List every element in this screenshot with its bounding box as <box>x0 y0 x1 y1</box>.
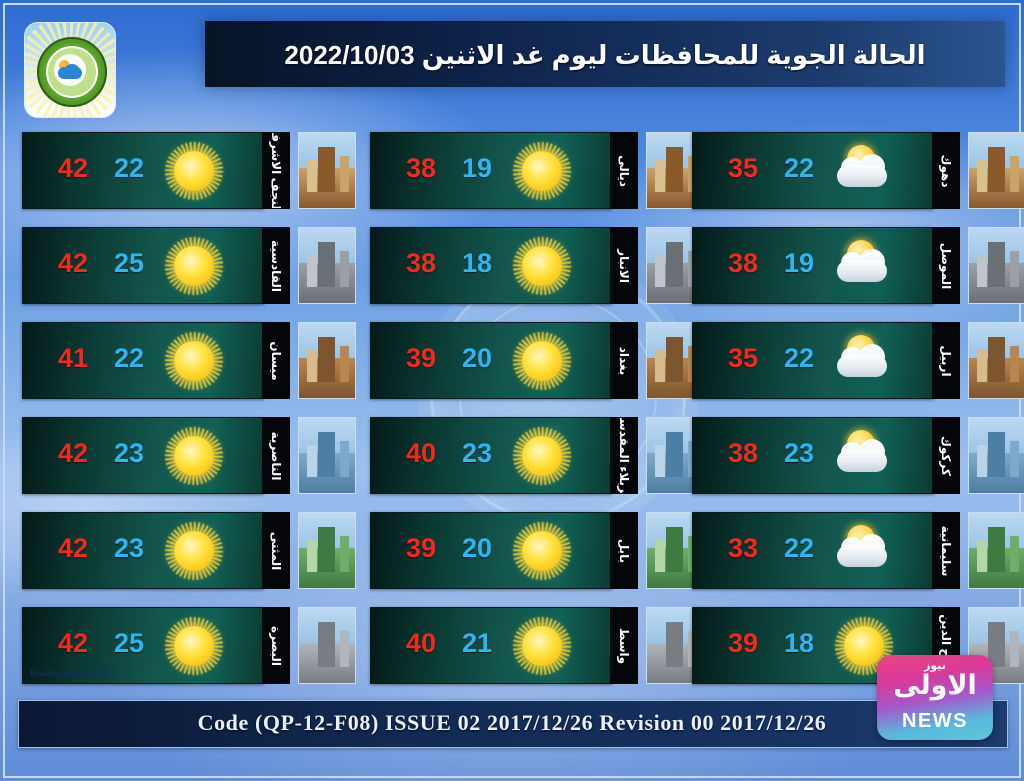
forecast-row: 3818الانبار <box>370 227 680 317</box>
forecast-card[interactable]: 4223 <box>22 417 264 494</box>
max-temperature: 41 <box>47 343 99 374</box>
forecast-card[interactable]: 3823 <box>692 417 934 494</box>
photo-structure-secondary <box>307 445 317 477</box>
seal-weather-glyph <box>54 54 86 86</box>
max-temperature: 33 <box>717 533 769 564</box>
partly-cloudy-icon <box>833 331 895 391</box>
photo-structure <box>666 527 683 572</box>
photo-structure-secondary <box>977 445 987 477</box>
partly-cloudy-icon <box>833 141 895 201</box>
forecast-column-3: 3522دهوك3819الموصل3522اربيل3823كركوك3322… <box>692 132 1002 702</box>
sun-icon <box>163 521 225 581</box>
min-temperature: 18 <box>773 628 825 659</box>
forecast-card[interactable]: 3920 <box>370 322 612 399</box>
min-temperature: 25 <box>103 248 155 279</box>
sun-disc <box>522 531 562 571</box>
sun-icon <box>511 236 573 296</box>
governorate-name: واسط <box>617 627 631 663</box>
photo-structure-secondary <box>307 635 317 667</box>
photo-structure-tertiary <box>1010 536 1019 572</box>
governorate-nameplate: بغداد <box>610 322 638 399</box>
news-logo-english: NEWS <box>877 710 993 733</box>
governorate-nameplate: ديالى <box>610 132 638 209</box>
governorate-name: سليمانية <box>939 525 953 576</box>
photo-structure <box>666 432 683 477</box>
photo-structure <box>666 147 683 192</box>
landmark-photo-sulaymaniyah-building <box>968 512 1024 589</box>
sun-icon <box>511 331 573 391</box>
photo-structure-secondary <box>307 540 317 572</box>
governorate-name: ميسان <box>269 341 283 380</box>
photo-structure-secondary <box>307 255 317 287</box>
photo-structure-tertiary <box>1010 156 1019 192</box>
forecast-card[interactable]: 3819 <box>370 132 612 209</box>
governorate-nameplate: البصرة <box>262 607 290 684</box>
photo-structure-secondary <box>655 160 665 192</box>
governorate-nameplate: كركوك <box>932 417 960 494</box>
max-temperature: 39 <box>395 343 447 374</box>
max-temperature: 42 <box>47 153 99 184</box>
governorate-name: النجف الاشرف <box>269 132 283 209</box>
landmark-photo-nasiriyah-river <box>298 417 356 494</box>
governorate-name: الموصل <box>939 242 953 289</box>
partly-cloudy-icon <box>833 426 895 486</box>
forecast-card[interactable]: 4122 <box>22 322 264 399</box>
max-temperature: 35 <box>717 343 769 374</box>
photo-structure-secondary <box>655 445 665 477</box>
photo-structure-secondary <box>977 160 987 192</box>
photo-structure <box>988 147 1005 192</box>
governorate-name: البصرة <box>269 626 283 666</box>
governorate-nameplate: كربلاء المقدسة <box>610 417 638 494</box>
governorate-nameplate: الموصل <box>932 227 960 304</box>
governorate-nameplate: الانبار <box>610 227 638 304</box>
landmark-photo-najaf-shrine <box>298 132 356 209</box>
forecast-row: 3819الموصل <box>692 227 1002 317</box>
max-temperature: 38 <box>395 248 447 279</box>
landmark-photo-amarah-tower <box>298 322 356 399</box>
footer-code-text: Code (QP-12-F08) ISSUE 02 2017/12/26 Rev… <box>18 700 1006 746</box>
governorate-nameplate: بابل <box>610 512 638 589</box>
sun-disc <box>174 531 214 571</box>
forecast-card[interactable]: 4223 <box>22 512 264 589</box>
max-temperature: 40 <box>395 628 447 659</box>
news-channel-logo: نيوز الاولى NEWS <box>877 655 993 740</box>
forecast-row: 4223المثنى <box>22 512 332 602</box>
governorate-name: الناصرية <box>269 431 283 480</box>
forecast-row: 4023كربلاء المقدسة <box>370 417 680 507</box>
sun-disc <box>174 341 214 381</box>
sun-icon <box>163 331 225 391</box>
landmark-photo-samawah-arch <box>298 512 356 589</box>
photo-structure-secondary <box>307 350 317 382</box>
cloud-base <box>837 260 887 282</box>
sun-disc <box>522 341 562 381</box>
forecast-row: 4222النجف الاشرف <box>22 132 332 222</box>
governorate-name: دهوك <box>939 154 953 187</box>
forecast-card[interactable]: 3322 <box>692 512 934 589</box>
governorate-nameplate: سليمانية <box>932 512 960 589</box>
min-temperature: 23 <box>103 533 155 564</box>
photo-structure-tertiary <box>1010 346 1019 382</box>
governorate-nameplate: الناصرية <box>262 417 290 494</box>
forecast-card[interactable]: 3818 <box>370 227 612 304</box>
photo-structure-tertiary <box>340 441 349 477</box>
photo-structure <box>318 337 335 382</box>
min-temperature: 18 <box>451 248 503 279</box>
weather-forecast-screen: الحالة الجوية للمحافظات ليوم غد الاثنين … <box>0 0 1024 781</box>
forecast-row: 4021واسط <box>370 607 680 697</box>
photo-structure-tertiary <box>1010 441 1019 477</box>
sun-icon <box>511 521 573 581</box>
photo-structure-secondary <box>307 160 317 192</box>
photo-structure <box>988 337 1005 382</box>
forecast-card[interactable]: 4021 <box>370 607 612 684</box>
max-temperature: 40 <box>395 438 447 469</box>
governorate-name: بغداد <box>617 346 631 374</box>
photo-structure <box>988 242 1005 287</box>
forecast-card[interactable]: 4222 <box>22 132 264 209</box>
landmark-photo-duhok-cliffs <box>968 132 1024 209</box>
sun-disc <box>522 436 562 476</box>
min-temperature: 19 <box>773 248 825 279</box>
min-temperature: 23 <box>773 438 825 469</box>
min-temperature: 22 <box>103 343 155 374</box>
max-temperature: 38 <box>717 248 769 279</box>
forecast-row: 3522اربيل <box>692 322 1002 412</box>
forecast-row: 3920بابل <box>370 512 680 602</box>
cloud-base <box>837 165 887 187</box>
forecast-row: 4122ميسان <box>22 322 332 412</box>
landmark-photo-mosul-minaret <box>968 227 1024 304</box>
sun-icon <box>163 141 225 201</box>
governorate-name: المثنى <box>269 531 283 570</box>
photo-structure <box>666 622 683 667</box>
max-temperature: 42 <box>47 248 99 279</box>
photo-structure <box>666 337 683 382</box>
photo-structure <box>666 242 683 287</box>
min-temperature: 22 <box>773 153 825 184</box>
forecast-column-2: 3819ديالى3818الانبار3920بغداد4023كربلاء … <box>370 132 680 702</box>
sun-icon <box>163 616 225 676</box>
max-temperature: 38 <box>395 153 447 184</box>
sun-disc <box>174 246 214 286</box>
forecast-column-1: 4222النجف الاشرف4225القادسية4122ميسان422… <box>22 132 332 702</box>
partly-cloudy-icon <box>833 236 895 296</box>
photo-structure-tertiary <box>1010 631 1019 667</box>
governorate-nameplate: المثنى <box>262 512 290 589</box>
photo-structure <box>318 147 335 192</box>
photo-structure <box>988 527 1005 572</box>
min-temperature: 22 <box>103 153 155 184</box>
sun-disc <box>174 626 214 666</box>
max-temperature: 42 <box>47 628 99 659</box>
photo-structure-secondary <box>655 255 665 287</box>
photo-structure-tertiary <box>340 536 349 572</box>
sun-icon <box>163 236 225 296</box>
min-temperature: 23 <box>451 438 503 469</box>
governorate-name: اربيل <box>939 345 953 376</box>
governorate-name: ديالى <box>617 155 631 187</box>
min-temperature: 19 <box>451 153 503 184</box>
governorate-name: القادسية <box>269 240 283 292</box>
forecast-row: 3823كركوك <box>692 417 1002 507</box>
sun-icon <box>511 616 573 676</box>
min-temperature: 23 <box>103 438 155 469</box>
min-temperature: 25 <box>103 628 155 659</box>
forecast-row: 3322سليمانية <box>692 512 1002 602</box>
photo-structure-secondary <box>977 350 987 382</box>
max-temperature: 38 <box>717 438 769 469</box>
max-temperature: 42 <box>47 533 99 564</box>
photo-structure <box>988 432 1005 477</box>
governorate-nameplate: واسط <box>610 607 638 684</box>
forecast-grid: 4222النجف الاشرف4225القادسية4122ميسان422… <box>0 132 1024 672</box>
governorate-nameplate: ميسان <box>262 322 290 399</box>
cloud-base <box>837 355 887 377</box>
max-temperature: 39 <box>395 533 447 564</box>
max-temperature: 35 <box>717 153 769 184</box>
min-temperature: 20 <box>451 533 503 564</box>
photo-structure <box>318 622 335 667</box>
photo-structure-tertiary <box>340 251 349 287</box>
cloud-base <box>837 450 887 472</box>
min-temperature: 21 <box>451 628 503 659</box>
sun-icon <box>163 426 225 486</box>
forecast-card[interactable]: 3819 <box>692 227 934 304</box>
forecast-row: 3522دهوك <box>692 132 1002 222</box>
photo-structure-secondary <box>977 255 987 287</box>
photo-structure <box>318 527 335 572</box>
forecast-row: 4223الناصرية <box>22 417 332 507</box>
max-temperature: 42 <box>47 438 99 469</box>
landmark-photo-diwaniyah-monument <box>298 227 356 304</box>
max-temperature: 39 <box>717 628 769 659</box>
forecast-row: 4225القادسية <box>22 227 332 317</box>
min-temperature: 22 <box>773 343 825 374</box>
photo-structure-secondary <box>655 635 665 667</box>
photo-structure-secondary <box>977 540 987 572</box>
sun-disc <box>522 151 562 191</box>
sun-icon <box>511 426 573 486</box>
forecast-card[interactable]: 3920 <box>370 512 612 589</box>
seal-cloud-icon <box>58 67 82 79</box>
landmark-photo-basra-statue <box>298 607 356 684</box>
governorate-name: كربلاء المقدسة <box>617 417 631 494</box>
forecast-card[interactable]: 3522 <box>692 132 934 209</box>
photo-structure-tertiary <box>340 346 349 382</box>
cloud-base <box>837 545 887 567</box>
photo-structure-secondary <box>655 350 665 382</box>
news-logo-arabic-main: الاولى <box>877 670 993 700</box>
photo-structure-tertiary <box>1010 251 1019 287</box>
photo-structure-tertiary <box>340 631 349 667</box>
governorate-nameplate: دهوك <box>932 132 960 209</box>
sun-disc <box>522 626 562 666</box>
min-temperature: 22 <box>773 533 825 564</box>
governorate-name: الانبار <box>617 249 631 283</box>
landmark-photo-kirkuk-tomb <box>968 417 1024 494</box>
meteorological-seal-icon <box>24 22 116 118</box>
author-credit: Haider Alameri 2018 <box>30 668 116 678</box>
sun-disc <box>174 151 214 191</box>
forecast-row: 3819ديالى <box>370 132 680 222</box>
forecast-card[interactable]: 4023 <box>370 417 612 494</box>
sun-disc <box>522 246 562 286</box>
governorate-name: بابل <box>617 538 631 562</box>
forecast-row: 4225البصرة <box>22 607 332 697</box>
partly-cloudy-icon <box>833 521 895 581</box>
page-title: الحالة الجوية للمحافظات ليوم غد الاثنين … <box>210 28 1000 82</box>
min-temperature: 20 <box>451 343 503 374</box>
photo-structure-secondary <box>655 540 665 572</box>
photo-structure <box>318 242 335 287</box>
photo-structure-tertiary <box>340 156 349 192</box>
governorate-nameplate: النجف الاشرف <box>262 132 290 209</box>
governorate-nameplate: القادسية <box>262 227 290 304</box>
forecast-row: 3920بغداد <box>370 322 680 412</box>
sun-disc <box>174 436 214 476</box>
photo-structure <box>318 432 335 477</box>
forecast-card[interactable]: 3522 <box>692 322 934 399</box>
governorate-nameplate: اربيل <box>932 322 960 399</box>
governorate-name: كركوك <box>939 436 953 476</box>
landmark-photo-erbil-citadel <box>968 322 1024 399</box>
sun-icon <box>511 141 573 201</box>
forecast-card[interactable]: 4225 <box>22 227 264 304</box>
header-bar: الحالة الجوية للمحافظات ليوم غد الاثنين … <box>0 0 1024 125</box>
